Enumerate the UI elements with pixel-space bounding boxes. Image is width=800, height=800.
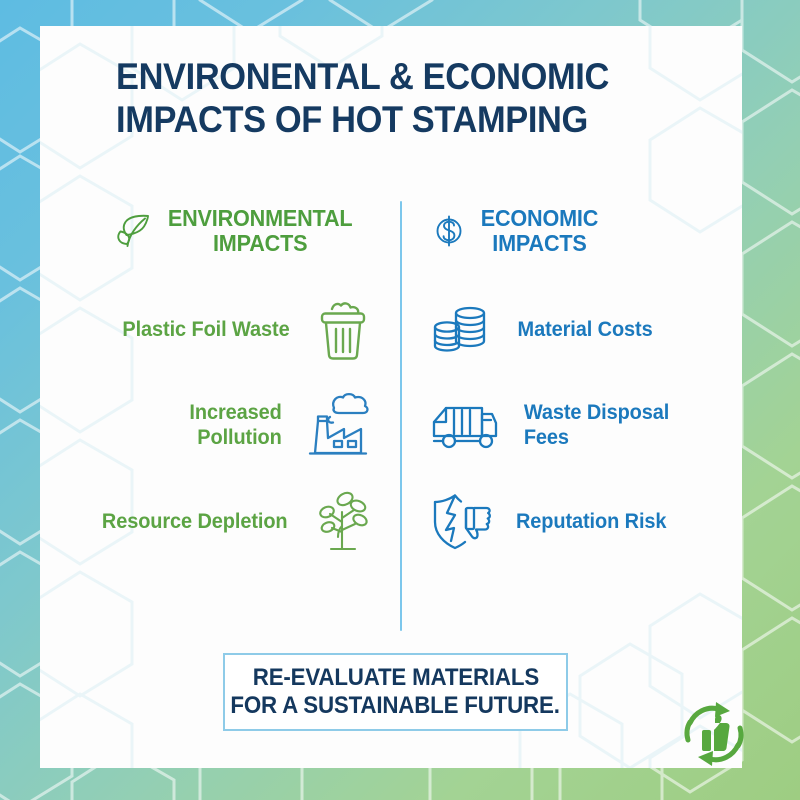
column-header-text-economic: ECONOMIC IMPACTS	[481, 206, 598, 256]
dollar-circle-icon	[432, 213, 466, 249]
column-header-text-environmental: ENVIRONMENTAL IMPACTS	[168, 206, 353, 256]
title-line-1: ENVIRONENTAL & ECONOMIC	[116, 56, 637, 99]
impact-label-line-1: Material Costs	[518, 318, 653, 341]
coin-stacks-icon	[430, 301, 494, 359]
column-header-line-2: IMPACTS	[213, 230, 307, 256]
impact-row-reputation-risk[interactable]: Reputation Risk	[408, 474, 738, 570]
factory-smokestack-icon	[304, 391, 372, 461]
infographic-poster: ENVIRONENTAL & ECONOMIC IMPACTS OF HOT S…	[0, 0, 800, 800]
content-card: ENVIRONENTAL & ECONOMIC IMPACTS OF HOT S…	[40, 26, 742, 768]
cta-line-1: RE-EVALUATE MATERIALS	[252, 664, 538, 692]
cracked-shield-thumbs-down-icon	[430, 492, 492, 552]
impact-label-line-1: Resource Depletion	[101, 510, 287, 533]
impact-row-increased-pollution[interactable]: Increased Pollution	[58, 378, 388, 474]
impact-row-material-costs[interactable]: Material Costs	[408, 282, 738, 378]
column-header-line-1: ENVIRONMENTAL	[168, 205, 353, 231]
column-divider	[400, 201, 402, 631]
column-header-environmental: ENVIRONMENTAL IMPACTS	[58, 194, 388, 268]
column-header-line-1: ECONOMIC	[481, 205, 598, 231]
impact-row-resource-depletion[interactable]: Resource Depletion	[58, 474, 388, 570]
trash-can-icon	[314, 299, 372, 361]
page-title: ENVIRONENTAL & ECONOMIC IMPACTS OF HOT S…	[116, 56, 637, 142]
cta-line-2: FOR A SUSTAINABLE FUTURE.	[231, 692, 560, 720]
garbage-truck-icon	[430, 398, 500, 454]
leaf-icon	[117, 213, 151, 249]
impact-label-line-1: Increased	[189, 401, 281, 424]
impact-label: Resource Depletion	[101, 510, 287, 535]
column-header-line-2: IMPACTS	[492, 230, 586, 256]
tree-sapling-icon	[312, 490, 372, 554]
impact-label: Increased Pollution	[189, 401, 281, 451]
impact-label: Waste Disposal Fees	[524, 401, 669, 451]
impact-label-line-2: Fees	[524, 426, 569, 449]
impact-label-line-1: Plastic Foil Waste	[122, 318, 289, 341]
title-line-2: IMPACTS OF HOT STAMPING	[116, 99, 637, 142]
call-to-action-box[interactable]: RE-EVALUATE MATERIALS FOR A SUSTAINABLE …	[223, 653, 568, 731]
impact-label-line-2: Pollution	[197, 426, 281, 449]
impact-label: Reputation Risk	[516, 510, 666, 535]
column-environmental: ENVIRONMENTAL IMPACTS Plastic Foil Waste	[58, 194, 388, 570]
impact-label: Plastic Foil Waste	[122, 318, 289, 343]
column-header-economic: ECONOMIC IMPACTS	[408, 194, 738, 268]
impact-label: Material Costs	[518, 318, 653, 343]
impact-label-line-1: Reputation Risk	[516, 510, 666, 533]
impact-label-line-1: Waste Disposal	[524, 401, 669, 424]
recycle-thumbs-up-logo	[672, 692, 756, 776]
impact-row-waste-disposal-fees[interactable]: Waste Disposal Fees	[408, 378, 738, 474]
column-economic: ECONOMIC IMPACTS	[408, 194, 738, 570]
impact-row-plastic-foil-waste[interactable]: Plastic Foil Waste	[58, 282, 388, 378]
